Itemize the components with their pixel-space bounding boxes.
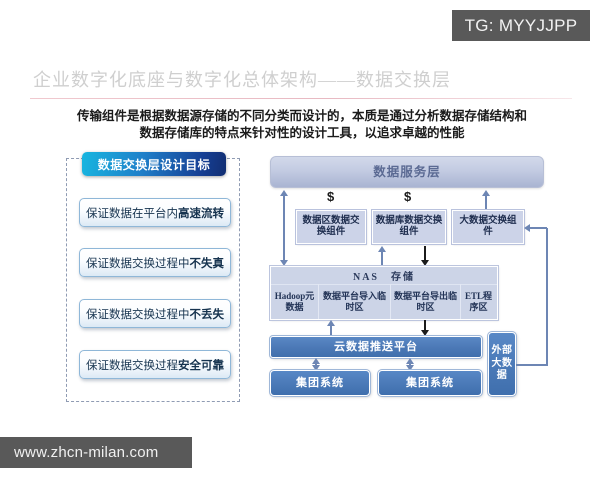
- page-title: 企业数字化底座与数字化总体架构——数据交换层: [33, 66, 573, 92]
- architecture-diagram: 数据服务层 $ $ 数据区数据交换组件 数据库数据交换组件 大数据交换组件: [266, 156, 558, 404]
- nas-cell-hadoop-metadata[interactable]: Hadoop元数据: [271, 284, 319, 319]
- component-data-zone-exchange[interactable]: 数据区数据交换组件: [296, 210, 366, 244]
- money-marker-1: $: [404, 189, 411, 204]
- nas-storage-block[interactable]: NAS 存储 Hadoop元数据 数据平台导入临时区 数据平台导出临时区 ETL…: [270, 266, 498, 320]
- tg-watermark-badge: TG: MYYJJPP: [452, 10, 590, 41]
- slide-canvas: TG: MYYJJPP www.zhcn-milan.com 企业数字化底座与数…: [0, 0, 600, 480]
- title-divider: [30, 98, 572, 99]
- nas-cell-import-staging[interactable]: 数据平台导入临时区: [319, 284, 391, 319]
- goal-emphasis-0: 高速流转: [178, 205, 224, 221]
- site-watermark-badge: www.zhcn-milan.com: [0, 437, 192, 468]
- data-service-layer-bar[interactable]: 数据服务层: [270, 156, 544, 188]
- goal-emphasis-3: 安全可靠: [178, 357, 224, 373]
- external-bigdata-box[interactable]: 外部大数据: [488, 332, 516, 396]
- nas-storage-title: NAS 存储: [271, 267, 497, 285]
- goal-text-2: 保证数据交换过程中: [86, 306, 190, 322]
- nas-cell-etl-program[interactable]: ETL程序区: [461, 284, 496, 319]
- goal-text-0: 保证数据在平台内: [86, 205, 178, 221]
- nas-cell-export-staging[interactable]: 数据平台导出临时区: [391, 284, 461, 319]
- goal-text-3: 保证数据交换过程: [86, 357, 178, 373]
- goal-item-2[interactable]: 保证数据交换过程中不丢失: [79, 299, 231, 328]
- goal-text-1: 保证数据交换过程中: [86, 255, 190, 271]
- goal-item-0[interactable]: 保证数据在平台内高速流转: [79, 198, 231, 227]
- component-bigdata-exchange[interactable]: 大数据交换组件: [452, 210, 524, 244]
- nas-storage-cells: Hadoop元数据 数据平台导入临时区 数据平台导出临时区 ETL程序区: [271, 284, 497, 319]
- component-database-exchange[interactable]: 数据库数据交换组件: [372, 210, 446, 244]
- group-system-0[interactable]: 集团系统: [270, 370, 370, 396]
- goal-item-3[interactable]: 保证数据交换过程安全可靠: [79, 350, 231, 379]
- cloud-data-push-platform[interactable]: 云数据推送平台: [270, 336, 482, 358]
- page-subtitle: 传输组件是根据数据源存储的不同分类而设计的，本质是通过分析数据存储结构和数据存储…: [72, 108, 532, 142]
- money-marker-0: $: [327, 189, 334, 204]
- goal-emphasis-1: 不失真: [190, 255, 225, 271]
- design-goals-header: 数据交换层设计目标: [82, 152, 226, 176]
- group-system-1[interactable]: 集团系统: [378, 370, 482, 396]
- goal-item-1[interactable]: 保证数据交换过程中不失真: [79, 248, 231, 277]
- goal-emphasis-2: 不丢失: [190, 306, 225, 322]
